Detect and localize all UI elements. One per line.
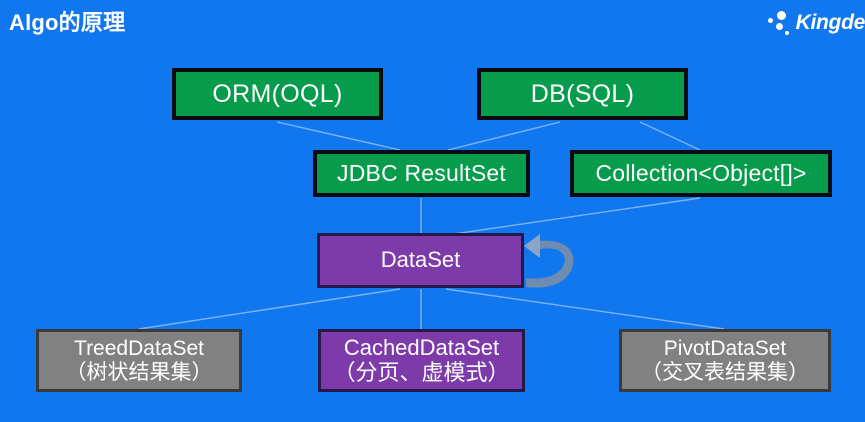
node-dataset[interactable]: DataSet [317,233,524,288]
node-orm-oql[interactable]: ORM(OQL) [172,68,383,120]
edge-dataset-to-treed [139,289,400,329]
node-label-primary: CachedDataSet [344,336,499,361]
node-collection-object-array[interactable]: Collection<Object[]> [570,150,832,197]
node-label-primary: PivotDataSet [664,337,787,361]
node-label: JDBC ResultSet [337,161,506,187]
self-loop-arrow-icon [522,230,584,300]
node-label: ORM(OQL) [212,80,342,108]
node-label-primary: TreedDataSet [74,337,204,361]
node-treeddataset[interactable]: TreedDataSet （树状结果集） [36,329,242,392]
node-label: DB(SQL) [531,80,635,108]
node-label-secondary: （分页、虚模式） [333,361,509,386]
kingdee-dots-logo-icon [764,10,794,36]
node-cacheddataset[interactable]: CachedDataSet （分页、虚模式） [318,329,525,392]
node-label-secondary: （交叉表结果集） [641,361,809,385]
page-title: Algo的原理 [9,5,125,37]
node-db-sql[interactable]: DB(SQL) [477,68,688,120]
brand-name: Kingde [796,11,865,35]
edge-db-to-jdbc [448,122,560,150]
edge-orm-to-jdbc [277,122,400,150]
slide-canvas: Algo的原理 Kingde ORM(OQL) DB(SQL) JDBC Res… [0,0,865,422]
edge-dataset-to-pivot [446,289,724,329]
node-label-secondary: （树状结果集） [66,361,213,385]
node-pivotdataset[interactable]: PivotDataSet （交叉表结果集） [619,329,831,392]
node-label: Collection<Object[]> [595,161,806,187]
brand-logo: Kingde [764,8,865,38]
node-label: DataSet [381,248,461,273]
edge-db-to-collection [640,122,700,150]
node-jdbc-resultset[interactable]: JDBC ResultSet [313,150,530,197]
